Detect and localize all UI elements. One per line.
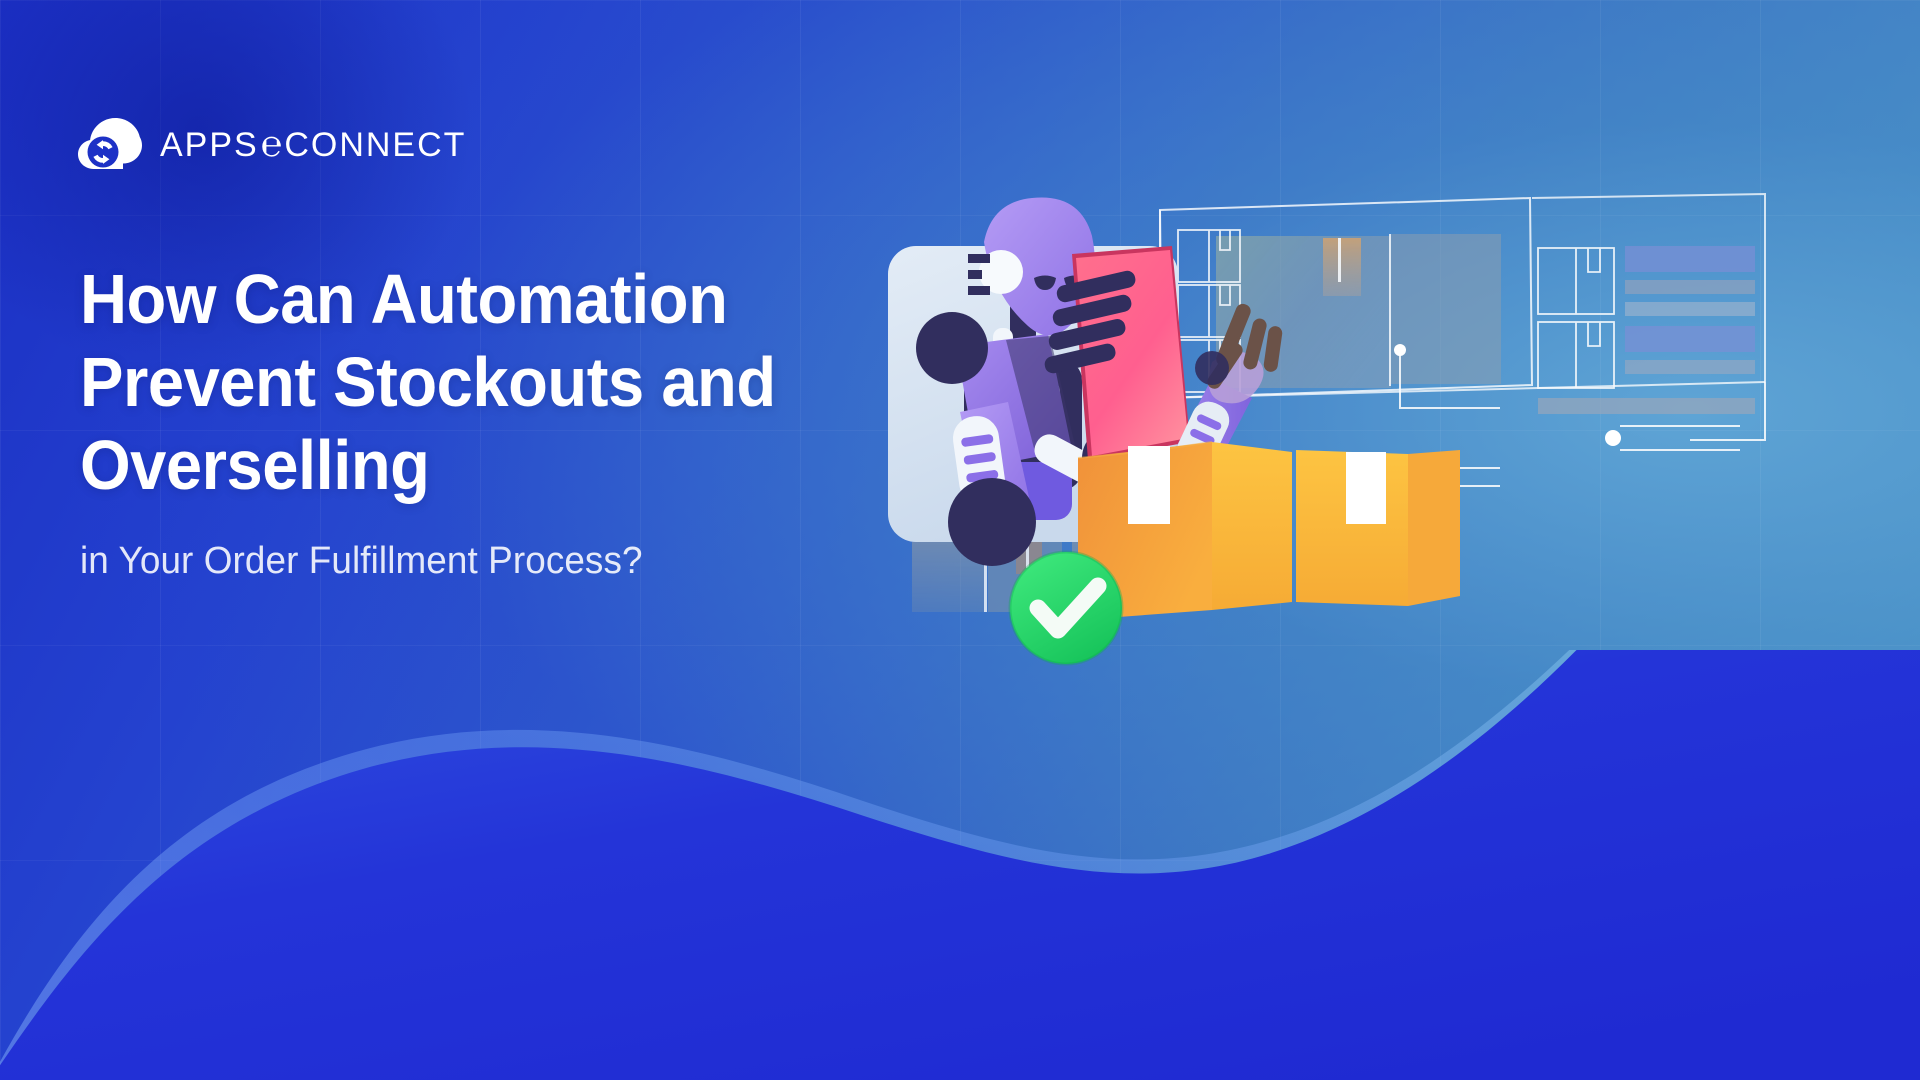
circuit-node-top [1394,344,1406,356]
brand-name-part2: CONNECT [284,126,466,164]
headline-line-1: How Can Automation [80,258,917,341]
marketing-banner: APPS℮CONNECT How Can Automation Prevent … [0,0,1920,1080]
hero-copy: How Can Automation Prevent Stockouts and… [80,258,980,585]
cardboard-boxes [1078,442,1460,620]
headline-line-2: Prevent Stockouts and [80,341,917,424]
wireframe-box-icons-right [1538,248,1614,388]
illustration [860,150,1920,730]
page-subtitle: in Your Order Fulfillment Process? [80,537,953,585]
headline-line-3: Overselling [80,424,917,507]
box-right-side [1408,450,1460,606]
brand-logo[interactable]: APPS℮CONNECT [78,118,466,170]
page-title: How Can Automation Prevent Stockouts and… [80,258,917,507]
bottom-wave [0,650,1920,1080]
circuit-node-mid [1605,430,1621,446]
wave-main-layer [0,650,1920,1080]
brand-name-e: ℮ [259,124,285,164]
brand-name-part1: APPS [160,126,259,164]
cloud-sync-icon [78,118,142,170]
green-check-badge [1010,552,1122,664]
box-left-label [1128,446,1170,524]
box-left-side [1212,442,1292,610]
brand-wordmark: APPS℮CONNECT [160,123,466,165]
box-right-label [1346,452,1386,524]
